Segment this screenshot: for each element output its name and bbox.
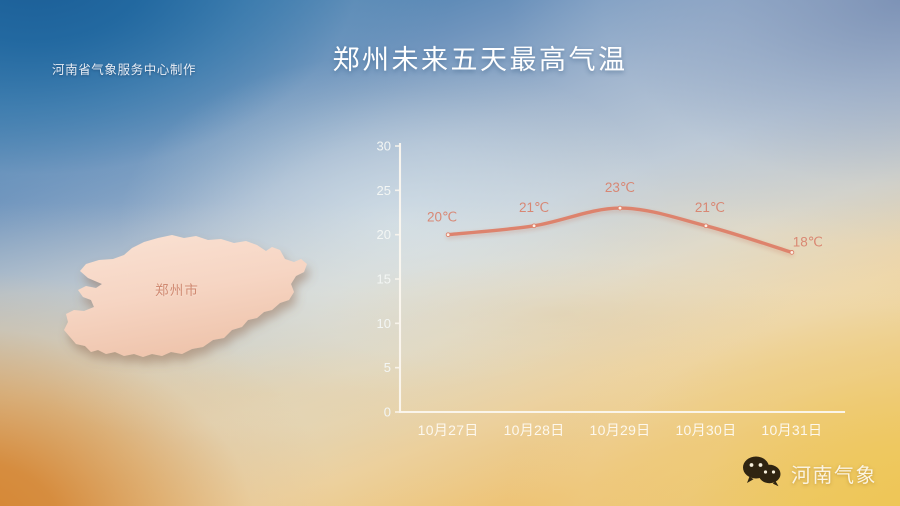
series-line-max-temp [448, 208, 792, 252]
data-point-label: 21℃ [519, 200, 549, 215]
data-point-label: 21℃ [695, 200, 725, 215]
map-city-label: 郑州市 [155, 279, 199, 299]
chart-x-axis-labels: 10月27日10月28日10月29日10月30日10月31日 [418, 422, 823, 438]
y-tick-label: 0 [384, 405, 391, 420]
weather-forecast-graphic: 河南省气象服务中心制作 郑州未来五天最高气温 郑州市 [0, 0, 900, 506]
data-point [446, 233, 450, 237]
page-title: 郑州未来五天最高气温 [0, 38, 900, 77]
y-tick-label: 15 [377, 272, 391, 287]
data-point [704, 224, 708, 228]
y-tick-label: 10 [377, 316, 391, 331]
wechat-account-name: 河南气象 [791, 459, 877, 488]
wechat-watermark: 河南气象 [742, 455, 877, 492]
x-tick-label: 10月31日 [761, 422, 822, 438]
temperature-line-chart: 051015202530 10月27日10月28日10月29日10月30日10月… [370, 138, 850, 458]
data-point-label: 20℃ [427, 210, 457, 225]
data-point-label: 18℃ [793, 234, 823, 249]
data-point [618, 206, 622, 210]
y-tick-label: 20 [377, 227, 391, 242]
data-point [532, 224, 536, 228]
x-tick-label: 10月28日 [504, 422, 565, 438]
x-tick-label: 10月30日 [675, 422, 736, 438]
data-point-label: 23℃ [605, 180, 635, 195]
x-tick-label: 10月27日 [418, 422, 479, 438]
wechat-icon [742, 455, 782, 492]
y-tick-label: 30 [377, 139, 391, 154]
chart-data-labels: 20℃21℃23℃21℃18℃ [427, 180, 823, 249]
y-tick-label: 5 [384, 360, 391, 375]
chart-series-line [448, 208, 792, 252]
chart-y-axis-ticks: 051015202530 [377, 139, 400, 420]
x-tick-label: 10月29日 [590, 422, 651, 438]
y-tick-label: 25 [377, 183, 391, 198]
data-point [790, 251, 794, 255]
